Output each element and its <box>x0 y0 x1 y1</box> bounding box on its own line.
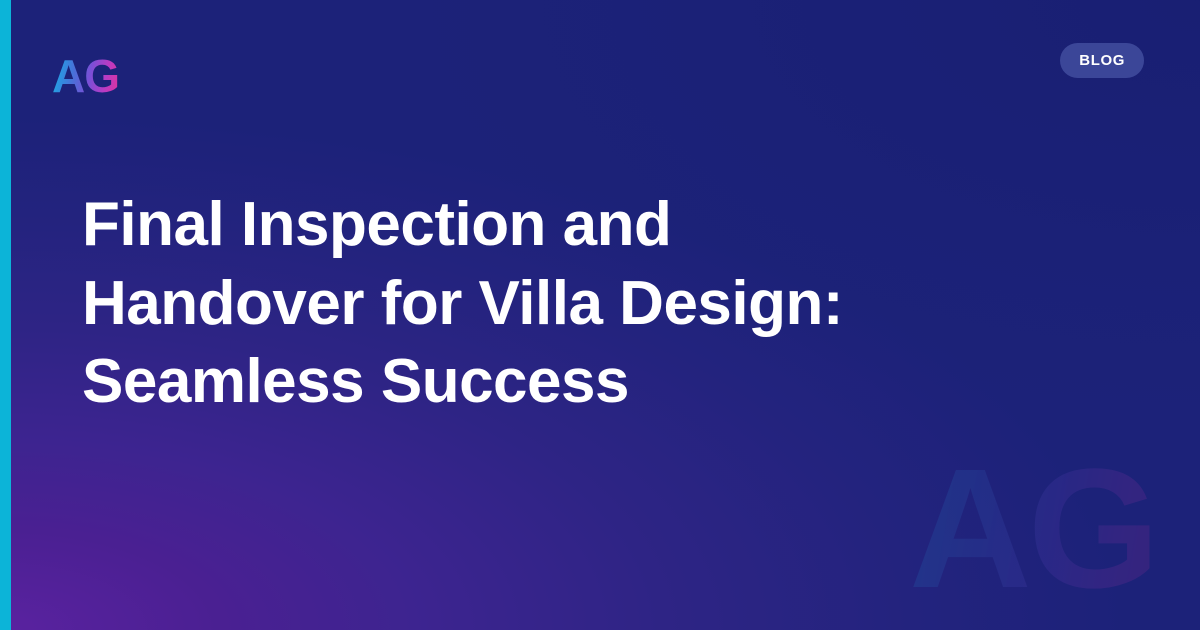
brand-logo[interactable]: AG <box>52 53 119 99</box>
page-title-line-2: Handover for Villa Design: <box>82 265 1022 344</box>
left-accent-bar <box>0 0 11 630</box>
page-title-line-1: Final Inspection and <box>82 186 1022 265</box>
brand-watermark: AG <box>909 444 1156 614</box>
og-card: AG BLOG Final Inspection and Handover fo… <box>0 0 1200 630</box>
category-badge-blog[interactable]: BLOG <box>1060 43 1144 78</box>
category-badge-label: BLOG <box>1079 52 1125 69</box>
page-title: Final Inspection and Handover for Villa … <box>82 186 1022 422</box>
page-title-line-3: Seamless Success <box>82 343 1022 422</box>
